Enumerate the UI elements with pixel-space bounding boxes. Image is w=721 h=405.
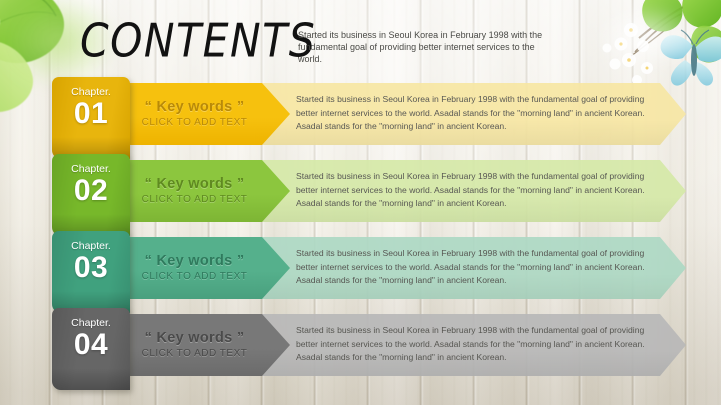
content-row: Started its business in Seoul Korea in F… bbox=[0, 314, 721, 376]
slide-canvas: CONTENTS Started its business in Seoul K… bbox=[0, 0, 721, 405]
content-row: Started its business in Seoul Korea in F… bbox=[0, 160, 721, 222]
body-text: Started its business in Seoul Korea in F… bbox=[296, 93, 646, 134]
keywords-subtitle: CLICK TO ADD TEXT bbox=[142, 347, 248, 361]
body-text: Started its business in Seoul Korea in F… bbox=[296, 247, 646, 288]
chapter-number: 02 bbox=[52, 174, 130, 208]
content-row: Started its business in Seoul Korea in F… bbox=[0, 83, 721, 145]
ribbon-tail bbox=[52, 368, 130, 390]
chapter-number: 03 bbox=[52, 251, 130, 285]
keywords-title: “ Key words ” bbox=[145, 330, 245, 347]
chapter-ribbon[interactable]: Chapter. 04 bbox=[52, 308, 130, 390]
chapter-number: 04 bbox=[52, 328, 130, 362]
keywords-subtitle: CLICK TO ADD TEXT bbox=[142, 193, 248, 207]
page-subtitle: Started its business in Seoul Korea in F… bbox=[298, 29, 560, 65]
keywords-panel[interactable]: “ Key words ” CLICK TO ADD TEXT bbox=[125, 314, 290, 376]
chapter-ribbon[interactable]: Chapter. 01 bbox=[52, 77, 130, 159]
keywords-title: “ Key words ” bbox=[145, 253, 245, 270]
content-row: Started its business in Seoul Korea in F… bbox=[0, 237, 721, 299]
keywords-panel[interactable]: “ Key words ” CLICK TO ADD TEXT bbox=[125, 160, 290, 222]
keywords-title: “ Key words ” bbox=[145, 99, 245, 116]
keywords-subtitle: CLICK TO ADD TEXT bbox=[142, 116, 248, 130]
chapter-number: 01 bbox=[52, 97, 130, 131]
page-title: CONTENTS bbox=[80, 14, 316, 68]
keywords-subtitle: CLICK TO ADD TEXT bbox=[142, 270, 248, 284]
body-text: Started its business in Seoul Korea in F… bbox=[296, 170, 646, 211]
keywords-panel[interactable]: “ Key words ” CLICK TO ADD TEXT bbox=[125, 83, 290, 145]
chapter-ribbon[interactable]: Chapter. 02 bbox=[52, 154, 130, 236]
body-text: Started its business in Seoul Korea in F… bbox=[296, 324, 646, 365]
chapter-ribbon[interactable]: Chapter. 03 bbox=[52, 231, 130, 313]
keywords-panel[interactable]: “ Key words ” CLICK TO ADD TEXT bbox=[125, 237, 290, 299]
keywords-title: “ Key words ” bbox=[145, 176, 245, 193]
